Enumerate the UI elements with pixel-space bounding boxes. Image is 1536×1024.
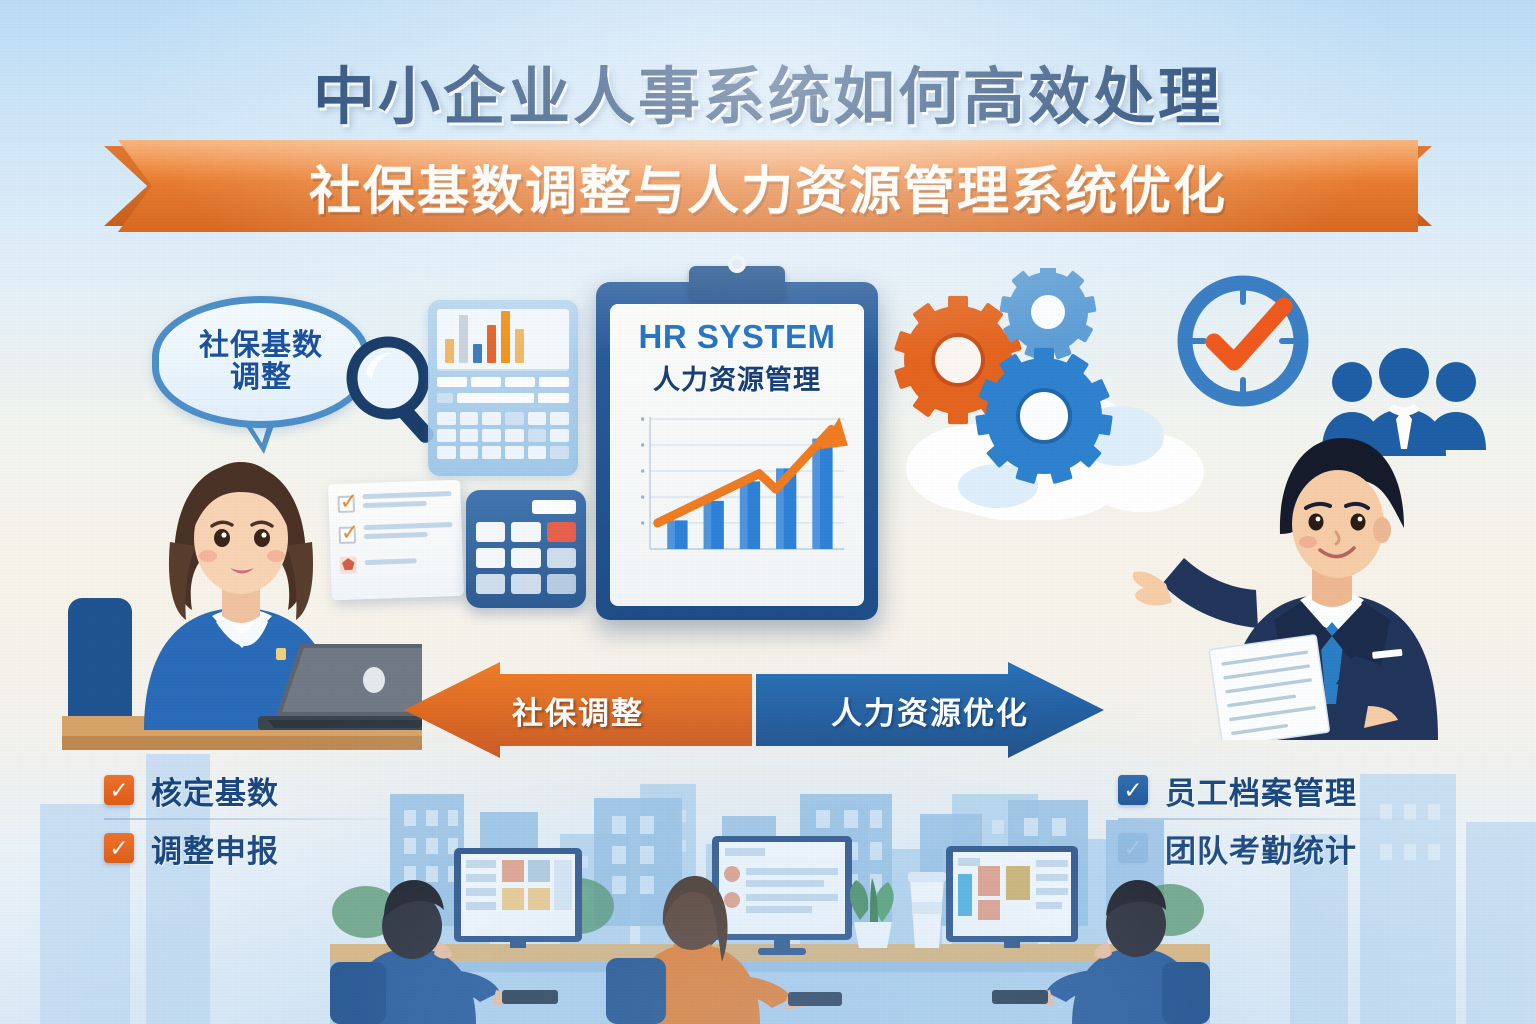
check-icon-orange: ✓ <box>104 833 134 863</box>
clock-with-check-icon <box>1168 266 1318 416</box>
calculator-icon <box>466 490 586 608</box>
coffee-cup-icon <box>908 872 946 948</box>
hr-officer-with-laptop <box>62 430 422 750</box>
arrow-right-label: 人力资源优化 <box>831 688 1029 733</box>
check-icon-orange: ✓ <box>104 775 134 805</box>
monitor <box>712 836 852 955</box>
title-block: 中小企业人事系统如何高效处理 <box>0 46 1536 136</box>
clipboard-heading-cn: 人力资源管理 <box>620 358 854 397</box>
ribbon-body: 社保基数调整与人力资源管理系统优化 <box>118 140 1418 232</box>
ribbon-title: 社保基数调整与人力资源管理系统优化 <box>309 149 1227 224</box>
plant-icon <box>850 878 894 948</box>
dashboard-row-2 <box>437 393 569 403</box>
clipboard-ring-icon <box>728 255 746 273</box>
arrow-right: 人力资源优化 <box>756 662 1104 758</box>
dashboard-row-1 <box>437 377 569 387</box>
speech-bubble-line-1: 社保基数 <box>199 329 323 362</box>
feature-label: 核定基数 <box>151 768 279 813</box>
speech-bubble-line-2: 调整 <box>230 361 292 394</box>
subtitle-ribbon: 社保基数调整与人力资源管理系统优化 <box>0 140 1536 236</box>
monitor <box>946 846 1078 948</box>
monitor <box>454 848 582 948</box>
speech-bubble-text: 社保基数 调整 <box>199 330 323 394</box>
dashboard-card <box>428 300 578 476</box>
process-arrows: 社保调整 人力资源优化 <box>404 662 1104 760</box>
hr-system-clipboard: HR SYSTEM 人力资源管理 <box>596 282 878 620</box>
arrow-left-label: 社保调整 <box>512 688 644 733</box>
growth-chart <box>626 409 848 561</box>
manager-pointing-with-document <box>1118 396 1490 740</box>
calculator-accent-key <box>547 522 576 542</box>
office-team-workstations <box>330 794 1210 1024</box>
clipboard-heading-en: HR SYSTEM <box>620 318 854 356</box>
feature-label: 调整申报 <box>151 826 279 871</box>
calculator-display <box>532 500 576 514</box>
page-title: 中小企业人事系统如何高效处理 <box>0 46 1536 136</box>
dashboard-bar-chart <box>437 309 569 371</box>
infographic-poster: 中小企业人事系统如何高效处理 社保基数调整与人力资源管理系统优化 社保基数 调整 <box>0 0 1536 1024</box>
dashboard-key-grid <box>437 412 569 459</box>
arrow-left: 社保调整 <box>404 662 752 758</box>
calculator-keypad <box>476 522 576 594</box>
clipboard-page: HR SYSTEM 人力资源管理 <box>610 304 864 606</box>
